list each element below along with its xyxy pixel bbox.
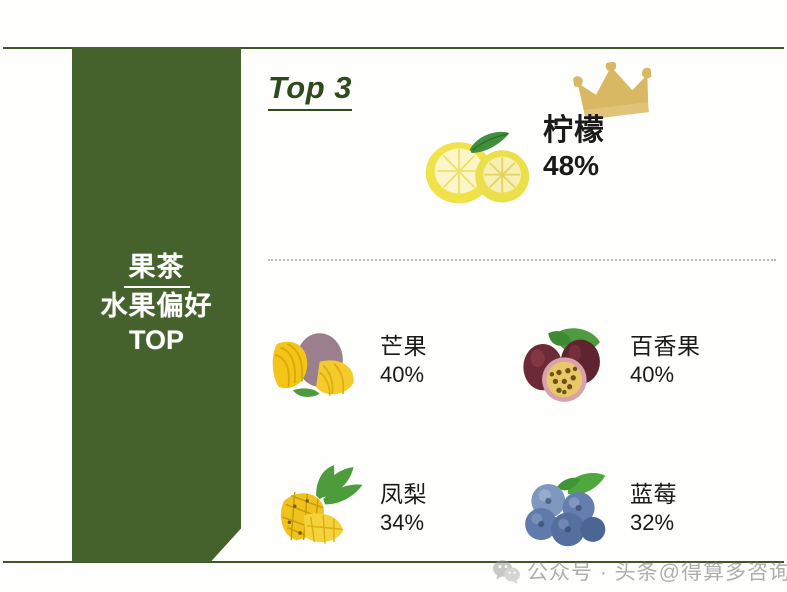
passionfruit-icon xyxy=(518,317,616,403)
fruit-item-mango: 芒果 40% xyxy=(268,286,518,434)
watermark: 公众号 · 头条@得算多咨询 xyxy=(492,556,787,586)
fruit-name-pineapple: 凤梨 xyxy=(380,480,427,509)
fruit-text-pineapple: 凤梨 34% xyxy=(380,480,427,536)
fruit-text-passionfruit: 百香果 40% xyxy=(630,332,701,388)
fruit-percent-mango: 40% xyxy=(380,361,427,389)
sidebar-panel: 果茶 水果偏好 TOP xyxy=(72,47,241,562)
top3-heading: Top 3 xyxy=(268,70,352,111)
fruit-item-pineapple: 凤梨 34% xyxy=(268,434,518,582)
rank-1-name: 柠檬 xyxy=(543,114,605,149)
sidebar-title-line-3: TOP xyxy=(101,324,213,358)
fruit-percent-passionfruit: 40% xyxy=(630,361,701,389)
sidebar-title: 果茶 水果偏好 TOP xyxy=(101,251,213,357)
fruit-text-mango: 芒果 40% xyxy=(380,332,427,388)
mango-icon xyxy=(268,317,366,403)
slide-canvas: 果茶 水果偏好 TOP Top 3 xyxy=(0,0,787,592)
lemon-icon xyxy=(423,116,531,208)
dotted-divider xyxy=(268,259,776,261)
sidebar-title-line-1: 果茶 xyxy=(124,251,190,288)
rank-1-percent: 48% xyxy=(543,149,605,183)
fruit-name-passionfruit: 百香果 xyxy=(630,332,701,361)
rank-1-text: 柠檬 48% xyxy=(543,114,605,182)
fruit-name-blueberry: 蓝莓 xyxy=(630,480,677,509)
fruit-item-passionfruit: 百香果 40% xyxy=(518,286,776,434)
wechat-bubble-icon xyxy=(492,558,520,584)
pineapple-icon xyxy=(268,465,366,551)
fruit-name-mango: 芒果 xyxy=(380,332,427,361)
fruit-grid: 芒果 40% xyxy=(268,286,776,582)
fruit-text-blueberry: 蓝莓 32% xyxy=(630,480,677,536)
fruit-percent-blueberry: 32% xyxy=(630,509,677,537)
rank-1-item: 柠檬 48% xyxy=(423,106,773,216)
sidebar-title-line-2: 水果偏好 xyxy=(101,290,213,324)
watermark-text: 公众号 · 头条@得算多咨询 xyxy=(527,556,787,586)
fruit-percent-pineapple: 34% xyxy=(380,509,427,537)
blueberry-icon xyxy=(518,465,616,551)
content-area: Top 3 xyxy=(268,58,776,553)
top3-heading-label: Top 3 xyxy=(268,70,352,111)
